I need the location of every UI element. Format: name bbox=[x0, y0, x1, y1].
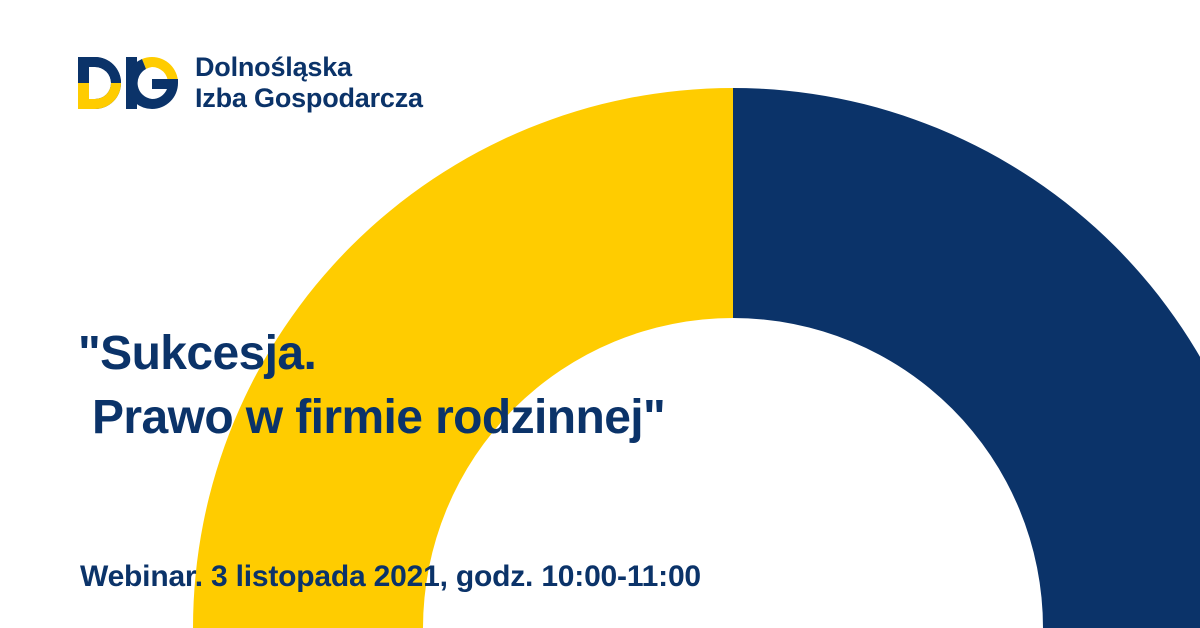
headline-line-2: Prawo w firmie rodzinnej" bbox=[78, 386, 778, 450]
event-details-text: Webinar. 3 listopada 2021, godz. 10:00-1… bbox=[80, 560, 701, 594]
dig-logo: Dolnośląska Izba Gospodarcza bbox=[78, 52, 423, 115]
headline-title: "Sukcesja. Prawo w firmie rodzinnej" bbox=[78, 322, 778, 450]
headline-line-1: "Sukcesja. bbox=[78, 322, 778, 386]
logo-wordmark-line-2: Izba Gospodarcza bbox=[195, 83, 423, 114]
logo-letter-g bbox=[126, 57, 178, 109]
dig-logo-wordmark: Dolnośląska Izba Gospodarcza bbox=[195, 52, 423, 115]
donut-segment-navy bbox=[733, 88, 1200, 628]
logo-letter-d bbox=[78, 57, 121, 109]
dig-logo-mark-icon bbox=[78, 57, 178, 109]
banner-canvas: Dolnośląska Izba Gospodarcza "Sukcesja. … bbox=[0, 0, 1200, 628]
logo-wordmark-line-1: Dolnośląska bbox=[195, 52, 423, 83]
